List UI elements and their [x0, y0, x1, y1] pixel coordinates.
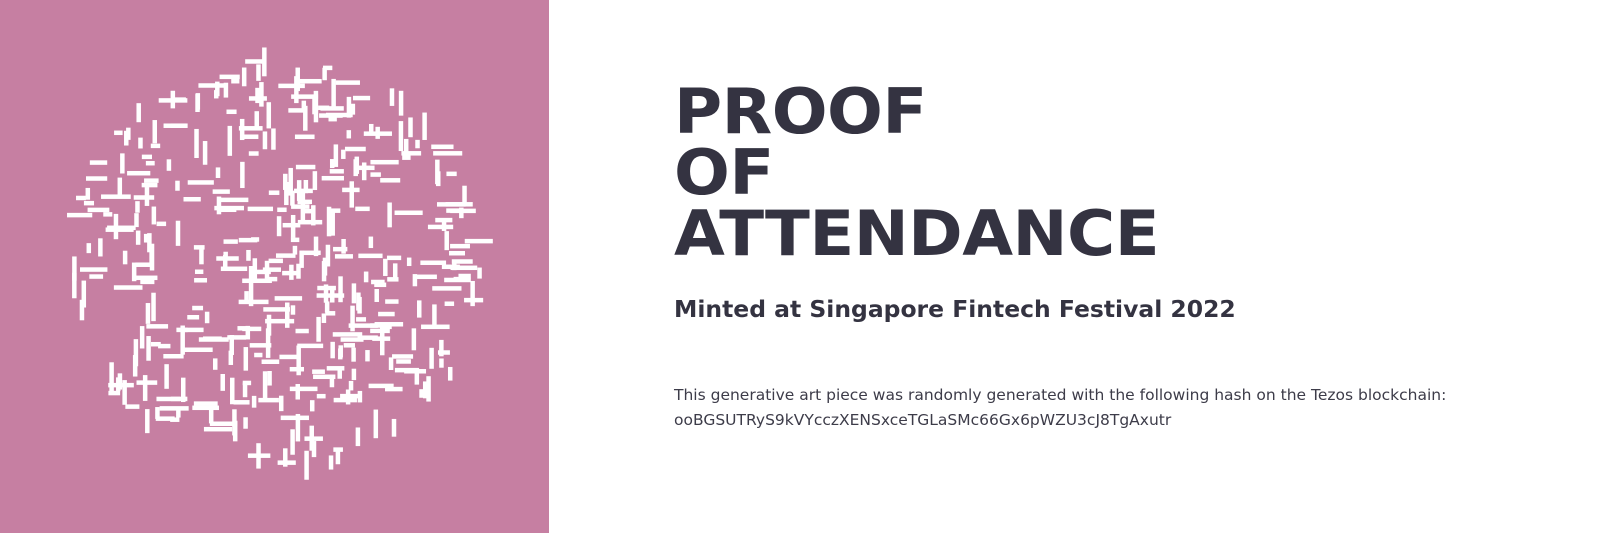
hash-description-text: This generative art piece was randomly g…	[674, 383, 1554, 408]
certificate-info-panel: PROOF OF ATTENDANCE Minted at Singapore …	[549, 0, 1600, 533]
hash-description-block: This generative art piece was randomly g…	[674, 383, 1554, 433]
title-line-1: PROOF	[674, 82, 1600, 143]
title-line-3: ATTENDANCE	[674, 204, 1600, 265]
page-title: PROOF OF ATTENDANCE	[674, 82, 1574, 264]
blockchain-hash-value: ooBGSUTRyS9kVYcczXENSxceTGLaSMc66Gx6pWZU…	[674, 408, 1554, 433]
generative-art-circle	[0, 0, 549, 533]
event-subtitle: Minted at Singapore Fintech Festival 202…	[674, 297, 1236, 325]
generative-art-panel	[0, 0, 549, 533]
title-line-2: OF	[674, 143, 1600, 204]
proof-of-attendance-certificate: PROOF OF ATTENDANCE Minted at Singapore …	[0, 0, 1600, 533]
